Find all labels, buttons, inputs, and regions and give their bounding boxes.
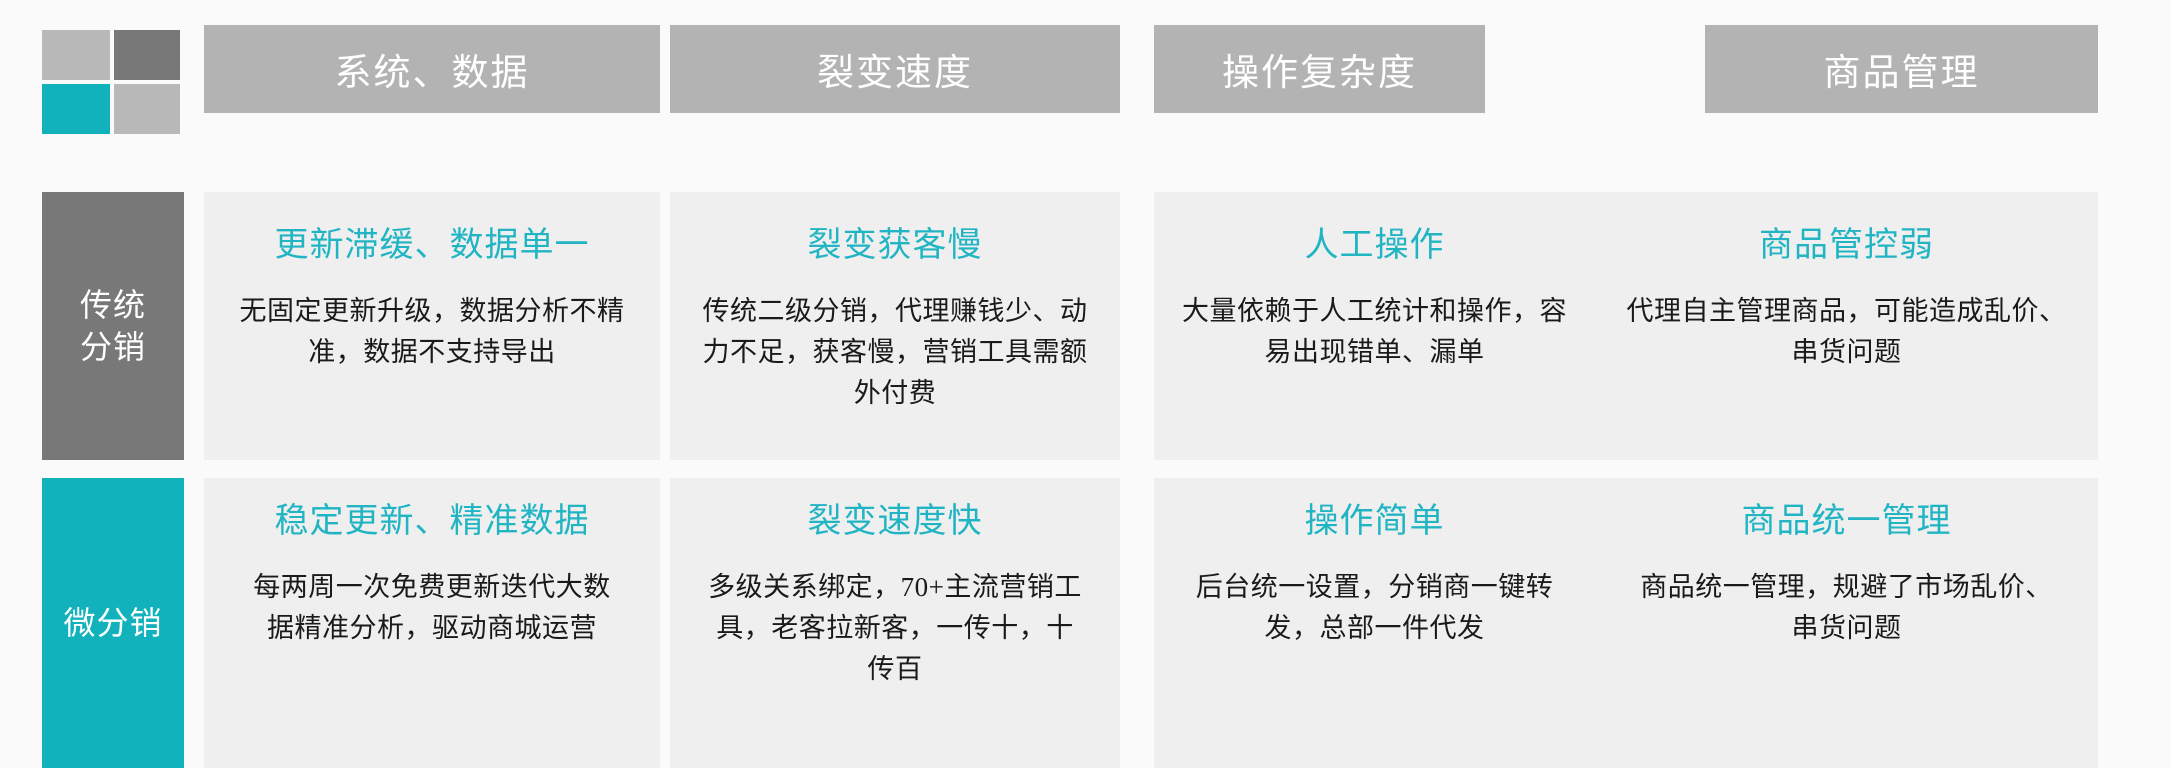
- cell-micro-operation-complexity: 操作简单 后台统一设置，分销商一键转发，总部一件代发: [1154, 478, 1595, 768]
- row-label-text: 微分销: [63, 602, 162, 644]
- cell-body: 商品统一管理，规避了市场乱价、串货问题: [1635, 567, 2058, 649]
- row-label-text: 传统 分销: [80, 284, 146, 368]
- cell-body: 多级关系绑定，70+主流营销工具，老客拉新客，一传十，十传百: [706, 567, 1084, 690]
- column-header-product-management: 商品管理: [1705, 25, 2098, 113]
- column-header-label: 操作复杂度: [1222, 42, 1417, 96]
- cell-body: 代理自主管理商品，可能造成乱价、串货问题: [1625, 291, 2068, 373]
- column-header-label: 裂变速度: [817, 42, 973, 96]
- cell-title: 人工操作: [1305, 226, 1445, 267]
- cell-title: 商品统一管理: [1742, 502, 1952, 543]
- column-header-system-data: 系统、数据: [204, 25, 660, 113]
- cell-micro-system-data: 稳定更新、精准数据 每两周一次免费更新迭代大数据精准分析，驱动商城运营: [204, 478, 660, 768]
- cell-title: 裂变获客慢: [808, 226, 983, 267]
- cell-body: 后台统一设置，分销商一键转发，总部一件代发: [1189, 567, 1559, 649]
- cell-micro-fission-speed: 裂变速度快 多级关系绑定，70+主流营销工具，老客拉新客，一传十，十传百: [670, 478, 1120, 768]
- cell-title: 裂变速度快: [808, 502, 983, 543]
- column-header-label: 商品管理: [1824, 42, 1980, 96]
- column-header-operation-complexity: 操作复杂度: [1154, 25, 1485, 113]
- cell-traditional-product-management: 商品管控弱 代理自主管理商品，可能造成乱价、串货问题: [1595, 192, 2098, 460]
- column-header-fission-speed: 裂变速度: [670, 25, 1120, 113]
- cell-body: 无固定更新升级，数据分析不精准，数据不支持导出: [231, 291, 632, 373]
- column-header-label: 系统、数据: [335, 42, 530, 96]
- cell-body: 传统二级分销，代理赚钱少、动力不足，获客慢，营销工具需额外付费: [697, 291, 1093, 414]
- cell-micro-product-management: 商品统一管理 商品统一管理，规避了市场乱价、串货问题: [1595, 478, 2098, 768]
- cell-title: 商品管控弱: [1759, 226, 1934, 267]
- comparison-table: 系统、数据 裂变速度 操作复杂度 商品管理 传统 分销 更新滞缓、数据单一 无固…: [42, 25, 2108, 768]
- cell-traditional-fission-speed: 裂变获客慢 传统二级分销，代理赚钱少、动力不足，获客慢，营销工具需额外付费: [670, 192, 1120, 460]
- row-label-micro-distribution: 微分销: [42, 478, 184, 768]
- cell-title: 更新滞缓、数据单一: [275, 226, 590, 267]
- cell-traditional-operation-complexity: 人工操作 大量依赖于人工统计和操作，容易出现错单、漏单: [1154, 192, 1595, 460]
- row-label-line: 传统: [80, 287, 146, 323]
- row-label-line: 分销: [80, 329, 146, 365]
- cell-body: 每两周一次免费更新迭代大数据精准分析，驱动商城运营: [240, 567, 623, 649]
- cell-traditional-system-data: 更新滞缓、数据单一 无固定更新升级，数据分析不精准，数据不支持导出: [204, 192, 660, 460]
- cell-title: 稳定更新、精准数据: [275, 502, 590, 543]
- cell-title: 操作简单: [1305, 502, 1445, 543]
- row-label-traditional: 传统 分销: [42, 192, 184, 460]
- cell-body: 大量依赖于人工统计和操作，容易出现错单、漏单: [1180, 291, 1568, 373]
- table-corner-cell: [42, 25, 184, 113]
